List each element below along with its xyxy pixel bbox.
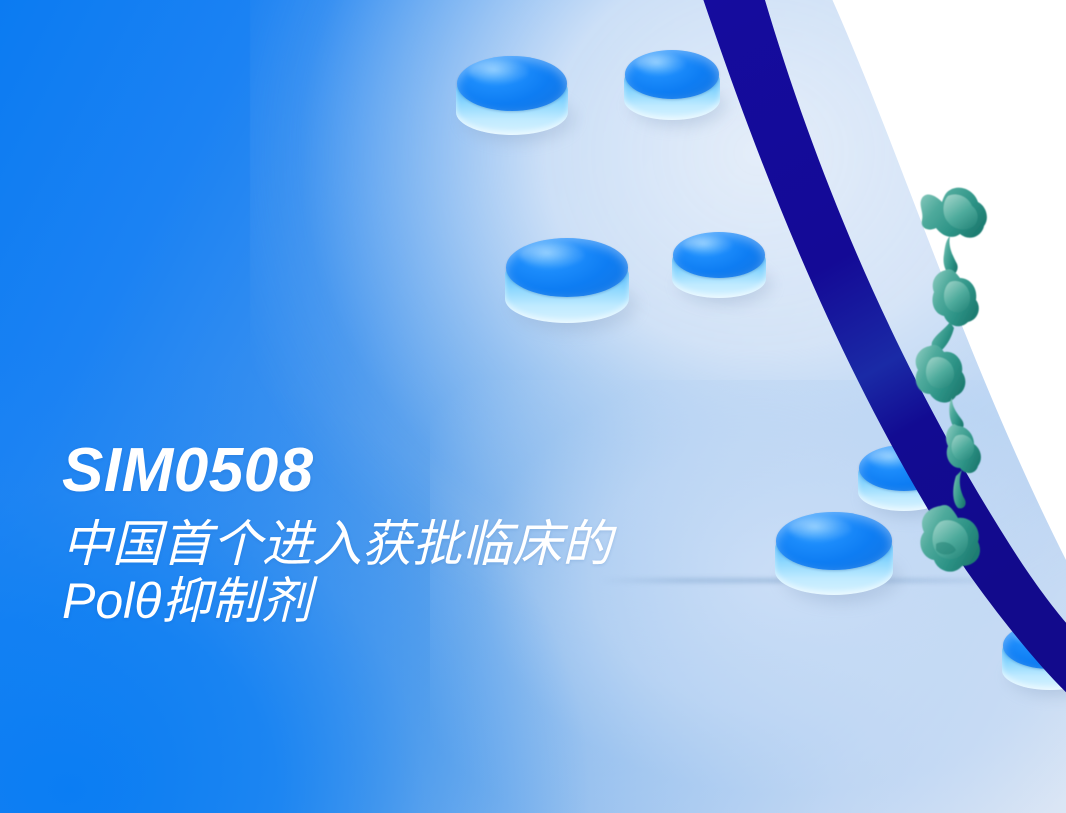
polymerase-theta-protein-ribbon-icon <box>890 158 1040 578</box>
subtitle: 中国首个进入获批临床的 Polθ抑制剂 <box>62 516 882 630</box>
poster-canvas: SIM0508 中国首个进入获批临床的 Polθ抑制剂 <box>0 0 1066 813</box>
page-title: SIM0508 <box>62 440 882 502</box>
subtitle-line-1: 中国首个进入获批临床的 <box>62 516 882 573</box>
subtitle-line-2: Polθ抑制剂 <box>62 573 882 630</box>
headline-block: SIM0508 中国首个进入获批临床的 Polθ抑制剂 <box>62 440 882 630</box>
